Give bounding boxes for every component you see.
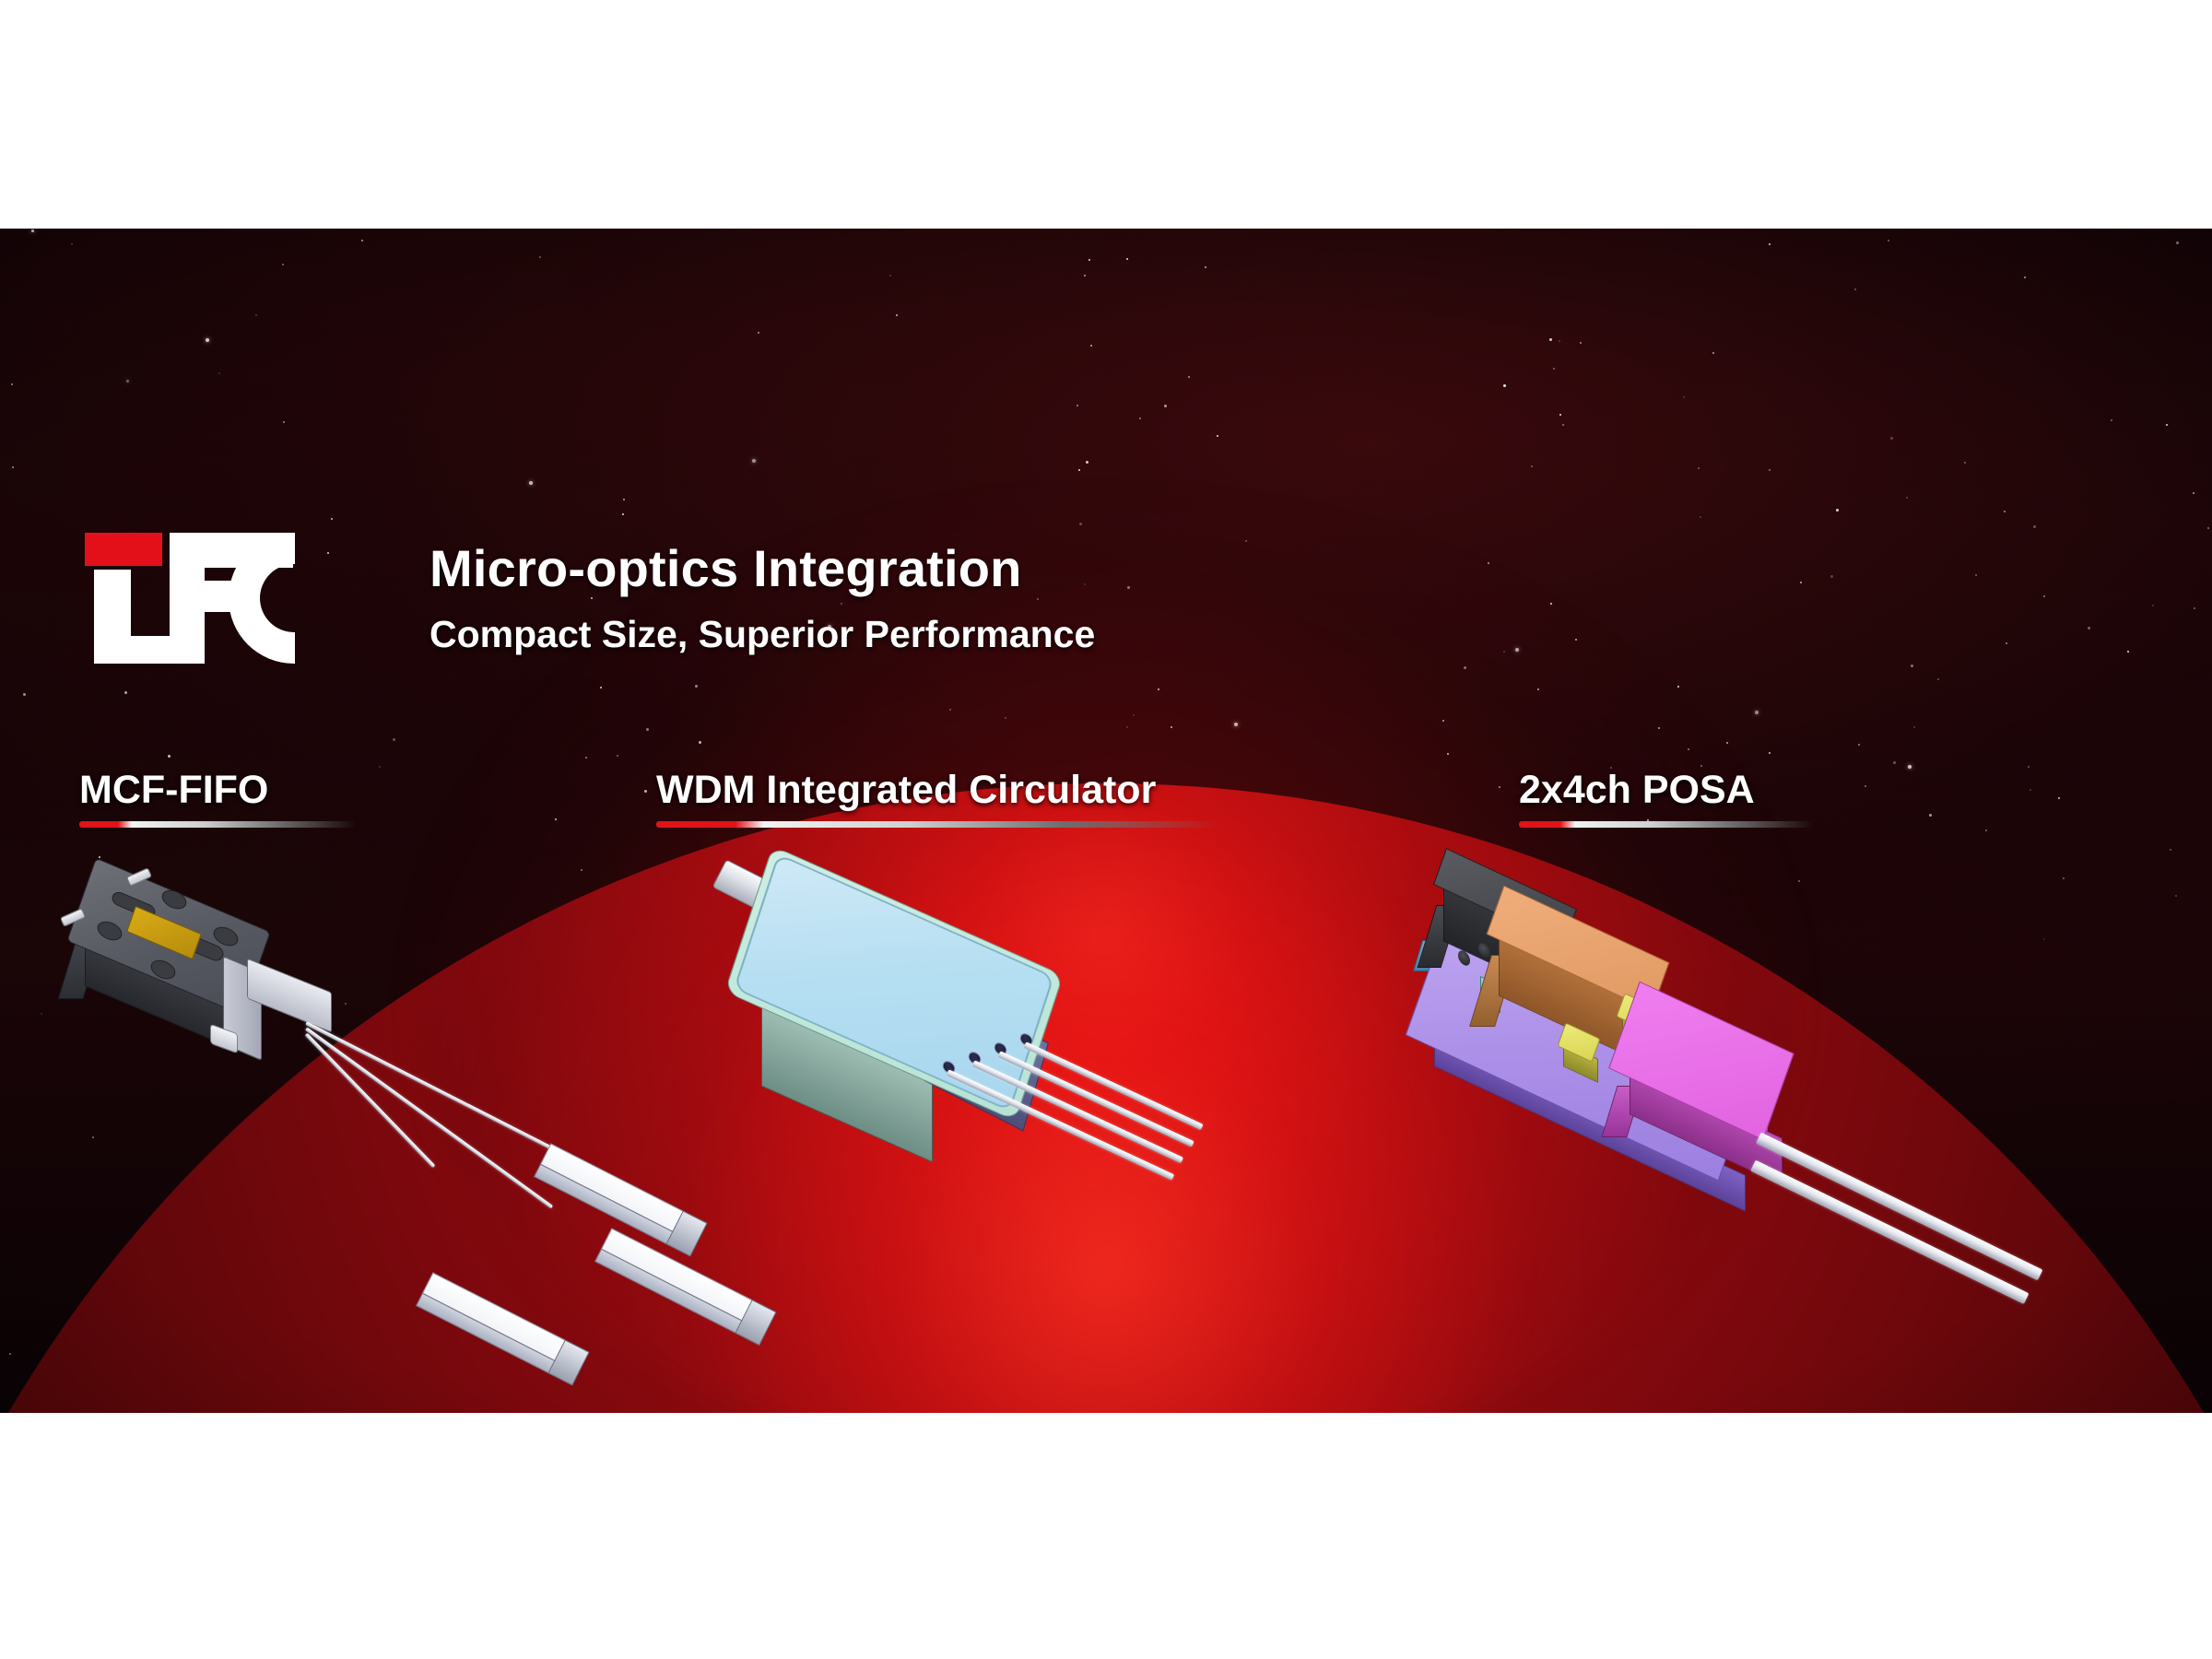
- mcf-fiber-array-tip-3: [415, 1272, 588, 1386]
- presentation-slide: Micro-optics Integration Compact Size, S…: [0, 229, 2212, 1413]
- page-subtitle: Compact Size, Superior Performance: [429, 613, 1095, 656]
- mcf-fiber-1: [305, 1021, 553, 1150]
- section-underline: [656, 821, 1220, 828]
- section-heading-wdm-circulator: WDM Integrated Circulator: [656, 768, 1220, 828]
- mcf-fifo-figure: [55, 865, 645, 1381]
- lfc-logo: [81, 533, 293, 664]
- page-title: Micro-optics Integration: [429, 538, 1095, 598]
- header-block: Micro-optics Integration Compact Size, S…: [429, 538, 1095, 656]
- section-underline: [79, 821, 356, 828]
- posa-fiber-1: [1756, 1133, 2042, 1281]
- logo-letter-l-foot: [94, 636, 179, 664]
- posa-fiber-2: [1750, 1160, 2029, 1304]
- wdm-circulator-figure: [700, 865, 1346, 1381]
- slide-page: Micro-optics Integration Compact Size, S…: [0, 0, 2212, 1659]
- section-heading-label: WDM Integrated Circulator: [656, 768, 1220, 813]
- section-heading-label: MCF-FIFO: [79, 768, 356, 813]
- logo-red-block: [85, 533, 162, 566]
- mcf-fiber-2: [305, 1027, 553, 1208]
- section-underline: [1519, 821, 1814, 828]
- section-heading-label: 2x4ch POSA: [1519, 768, 1814, 813]
- posa-figure: [1392, 855, 2147, 1371]
- section-heading-posa: 2x4ch POSA: [1519, 768, 1814, 828]
- section-heading-mcf-fifo: MCF-FIFO: [79, 768, 356, 828]
